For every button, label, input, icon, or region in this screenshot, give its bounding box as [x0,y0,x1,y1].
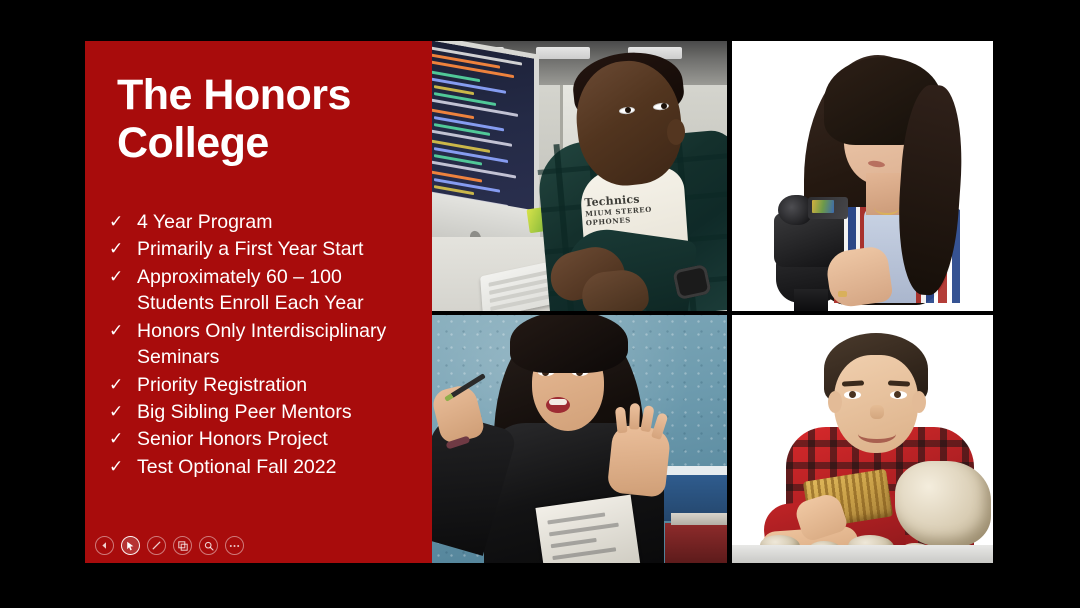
list-item-label: Priority Registration [137,372,439,398]
list-item: ✓ Primarily a First Year Start [109,236,439,262]
list-item-label: 4 Year Program [137,209,439,235]
imac-display [432,41,534,219]
list-item-label: Approximately 60 – 100 Students Enroll E… [137,264,439,317]
smile [858,425,896,443]
ear [912,391,926,413]
check-icon: ✓ [109,426,137,451]
book [671,513,727,525]
slide-content-panel: The Honors College ✓ 4 Year Program ✓ Pr… [85,41,432,563]
pointer-tool-button[interactable] [121,536,140,555]
check-icon: ✓ [109,209,137,234]
presenter-toolbar[interactable] [89,536,250,555]
list-item: ✓ Big Sibling Peer Mentors [109,399,439,425]
right-hand [607,424,672,498]
list-item: ✓ Approximately 60 – 100 Students Enroll… [109,264,439,317]
pen-tool-button[interactable] [147,536,166,555]
table-surface [732,545,993,563]
necklace [874,199,900,215]
student-ear [667,119,685,145]
all-slides-button[interactable] [173,536,192,555]
ceiling-light [536,47,590,59]
list-item-label: Honors Only Interdisciplinary Seminars [137,318,439,371]
teeth [549,399,567,405]
check-icon: ✓ [109,264,137,289]
tripod-column [794,289,828,311]
bullet-list: ✓ 4 Year Program ✓ Primarily a First Yea… [109,209,439,481]
list-item-label: Senior Honors Project [137,426,439,452]
rock-specimen-large [895,461,991,547]
check-icon: ✓ [109,372,137,397]
slide: The Honors College ✓ 4 Year Program ✓ Pr… [85,41,993,563]
camera-lens [778,195,812,225]
list-item-label: Primarily a First Year Start [137,236,439,262]
student-with-rock-specimens-photo [732,315,993,563]
more-options-button[interactable] [225,536,244,555]
ring [838,291,847,297]
nose [870,405,884,419]
check-icon: ✓ [109,236,137,261]
book [665,523,727,563]
ear [828,391,842,413]
list-item-label: Test Optional Fall 2022 [137,454,439,480]
list-item: ✓ 4 Year Program [109,209,439,235]
list-item: ✓ Priority Registration [109,372,439,398]
paper-handout [535,495,640,563]
slide-title: The Honors College [117,71,417,167]
list-item: ✓ Honors Only Interdisciplinary Seminars [109,318,439,371]
student-with-video-camera-photo [732,41,993,311]
camera-lcd-image [812,200,834,213]
list-item: ✓ Test Optional Fall 2022 [109,454,439,480]
zoom-tool-button[interactable] [199,536,218,555]
check-icon: ✓ [109,318,137,343]
student-coding-at-imac-photo: Technics MIUM STEREO OPHONES [432,41,727,311]
tshirt-graphic-text: Technics MIUM STEREO OPHONES [584,190,682,228]
presentation-stage: The Honors College ✓ 4 Year Program ✓ Pr… [0,0,1080,608]
check-icon: ✓ [109,454,137,479]
photo-grid: Technics MIUM STEREO OPHONES [432,41,993,563]
hair-front [510,315,628,373]
check-icon: ✓ [109,399,137,424]
list-item: ✓ Senior Honors Project [109,426,439,452]
previous-slide-button[interactable] [95,536,114,555]
student-speaking-in-seminar-photo [432,315,727,563]
list-item-label: Big Sibling Peer Mentors [137,399,439,425]
